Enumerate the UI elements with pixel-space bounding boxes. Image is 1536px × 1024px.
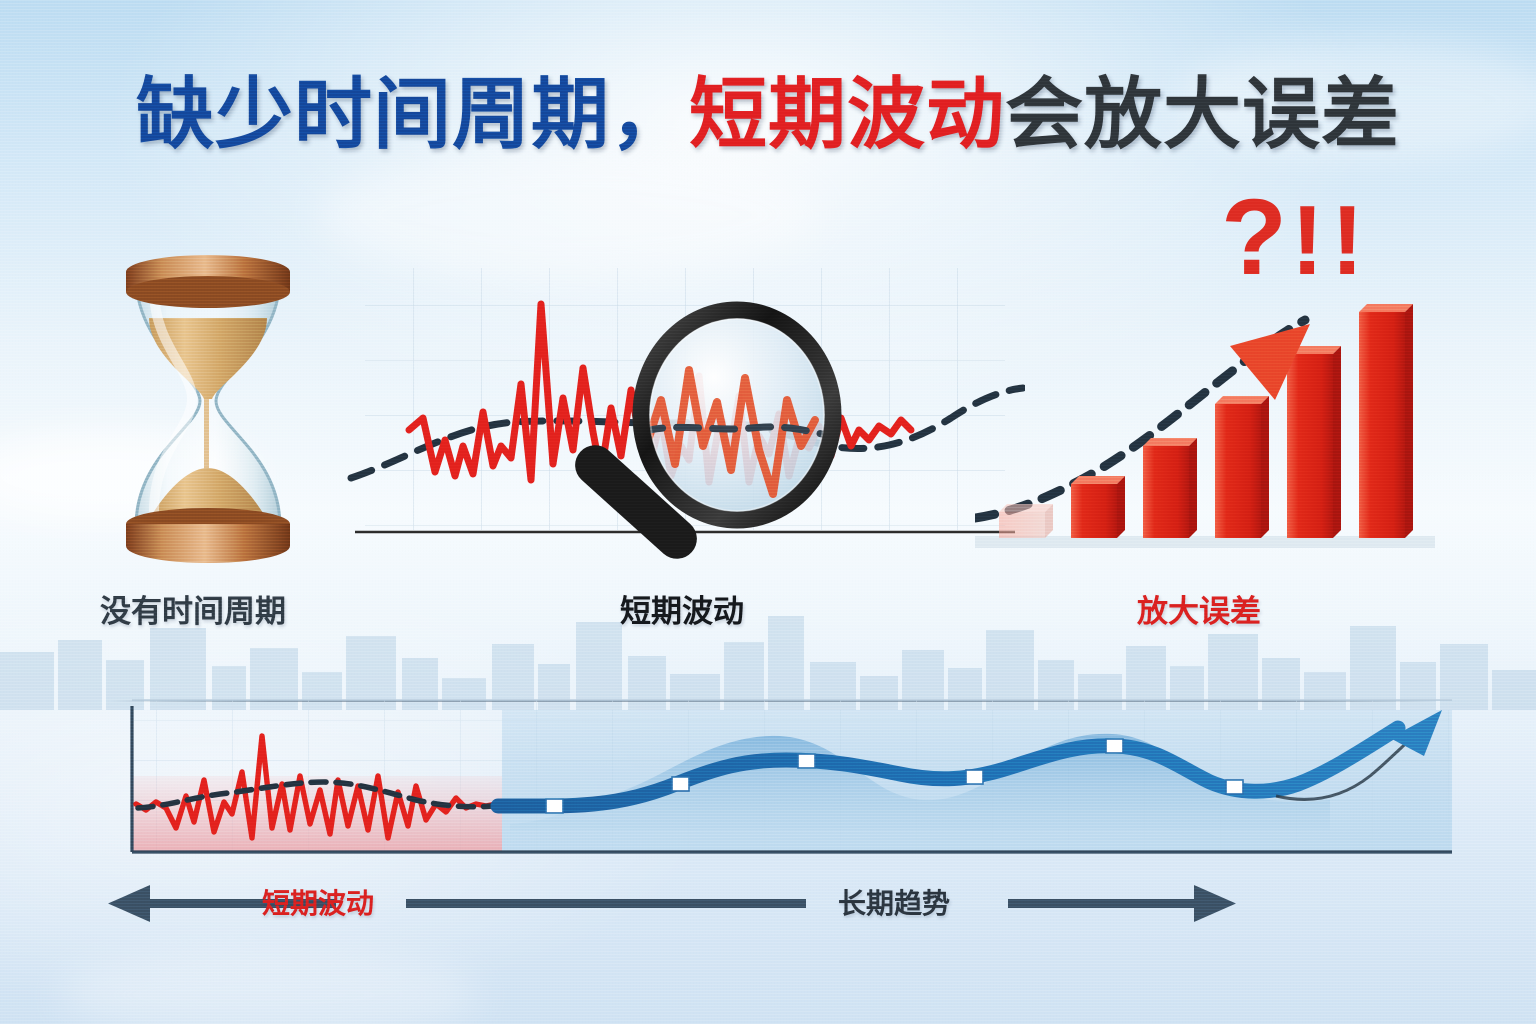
bar-item bbox=[1215, 396, 1269, 538]
caption-amplified-error: 放大误差 bbox=[1137, 586, 1261, 631]
hourglass-icon bbox=[92, 236, 324, 566]
bar-chart-icon: ? ! ! bbox=[975, 196, 1435, 570]
bar-item bbox=[1287, 346, 1341, 538]
title-segment-dark: 会放大误差 bbox=[1005, 70, 1400, 158]
svg-text:!: ! bbox=[1291, 196, 1324, 295]
axis-label-short-term: 短期波动 bbox=[262, 882, 374, 922]
svg-text:?: ? bbox=[1221, 196, 1287, 297]
title-segment-red: 短期波动 bbox=[689, 70, 1005, 158]
cloud-decoration bbox=[60, 950, 480, 1024]
bar-item bbox=[1359, 304, 1413, 538]
caption-short-term-volatility: 短期波动 bbox=[620, 586, 744, 631]
axis-label-long-term: 长期趋势 bbox=[838, 882, 950, 922]
infographic-canvas: 缺少时间周期，短期波动会放大误差 bbox=[0, 0, 1536, 1024]
title-segment-blue: 缺少时间周期， bbox=[136, 70, 689, 158]
combined-trend-chart bbox=[80, 680, 1456, 870]
bar-item bbox=[1143, 438, 1197, 538]
svg-text:!: ! bbox=[1331, 196, 1364, 295]
timeframe-axis-row bbox=[0, 866, 1536, 936]
caption-no-time-cycle: 没有时间周期 bbox=[100, 586, 286, 631]
bar-item bbox=[999, 504, 1053, 538]
question-exclaim-annotation: ? ! ! bbox=[1221, 196, 1364, 297]
page-title: 缺少时间周期，短期波动会放大误差 bbox=[0, 72, 1536, 156]
arrow-right-icon bbox=[1008, 885, 1236, 922]
bar-item bbox=[1071, 476, 1125, 538]
axis-middle-line bbox=[406, 899, 806, 908]
volatility-chart bbox=[345, 250, 1025, 570]
